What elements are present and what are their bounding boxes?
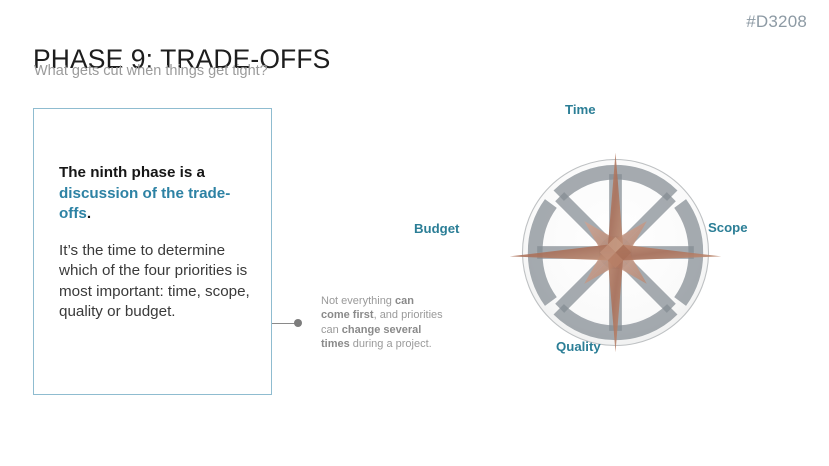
slide-code: #D3208: [746, 12, 807, 32]
description-body: It’s the time to determine which of the …: [59, 241, 254, 323]
compass-label-quality: Quality: [556, 339, 601, 354]
description-box: The ninth phase is a discussion of the t…: [33, 108, 272, 395]
compass-diagram: Time Scope Quality Budget: [470, 90, 810, 380]
compass-label-budget: Budget: [414, 221, 459, 236]
annotation-seg-5: during a project.: [350, 338, 432, 350]
description-heading-period: .: [87, 205, 91, 222]
compass-label-scope: Scope: [708, 220, 748, 235]
description-heading: The ninth phase is a discussion of the t…: [59, 163, 254, 225]
callout-connector-dot: [294, 319, 302, 327]
description-box-content: The ninth phase is a discussion of the t…: [59, 163, 254, 323]
description-heading-accent: discussion of the trade-offs: [59, 185, 230, 223]
annotation-seg-1: Not everything: [321, 295, 395, 307]
description-heading-lead: The ninth phase is a: [59, 164, 205, 181]
page-subtitle: What gets cut when things get tight?: [34, 63, 268, 79]
callout-annotation: Not everything can come first, and prior…: [321, 294, 443, 352]
compass-label-time: Time: [565, 102, 596, 117]
compass-rose-icon: [498, 135, 733, 370]
